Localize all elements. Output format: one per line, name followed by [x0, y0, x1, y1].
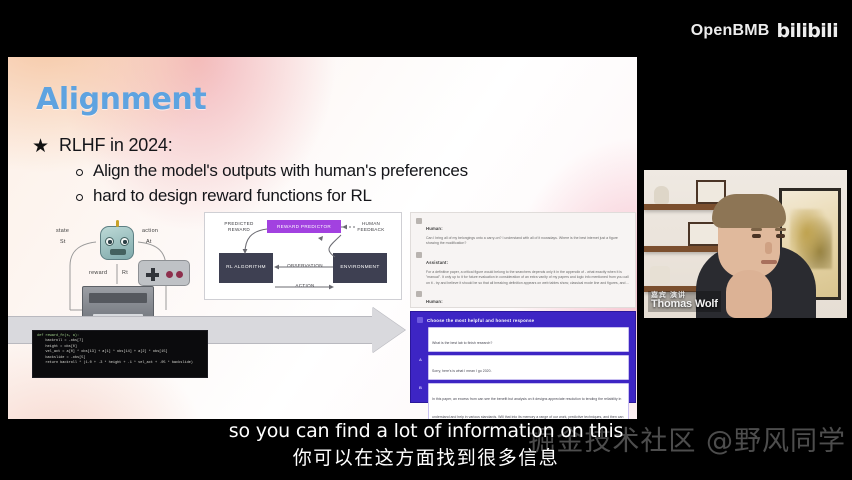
chat-role-label: Human:: [426, 226, 443, 231]
bullet-main: ★ RLHF in 2024:: [32, 135, 592, 156]
bullet-main-label: RLHF in 2024:: [59, 135, 172, 156]
chat-role-label: Human:: [426, 299, 443, 304]
slide-figures: state St action At reward Rt REWARD PRED…: [8, 212, 637, 419]
chat-message-text: For a definitive paper, a critical figur…: [426, 270, 630, 286]
preference-prompt-row: What is the best lab to finish research?: [417, 327, 629, 352]
rl-loop-state-sub: St: [60, 239, 66, 245]
slide-title: Alignment: [36, 82, 206, 117]
chat-turn: Human: Can I bring all of my belongings …: [416, 217, 630, 247]
preference-option-b-card[interactable]: In this paper, an excess from can see th…: [428, 383, 629, 419]
bullet-sub-label: Align the model's outputs with human's p…: [93, 161, 468, 181]
dpad-icon: [146, 268, 159, 281]
reward-function-code-block: def reward_fn(s, a): backroll = -obs[7] …: [32, 330, 208, 378]
code-line: return backroll * (1.0 + .3 * height + .…: [37, 361, 203, 366]
circle-bullet-icon: [76, 194, 83, 201]
robot-mouth-icon: [110, 249, 126, 255]
option-a-text: Sorry, here's is what I mean I go 2020.: [432, 369, 492, 373]
rl-loop-reward-label: reward: [89, 270, 107, 276]
bilibili-logo: bilibili: [777, 20, 838, 42]
rlhf-block-diagram: REWARD PREDICTOR RL ALGORITHM ENVIRONMEN…: [204, 212, 402, 300]
option-b-text: In this paper, an excess from can see th…: [432, 397, 623, 420]
option-b-key: B: [417, 383, 424, 419]
vase-decoration: [654, 186, 669, 204]
robot-eye-right-icon: [120, 237, 129, 246]
eye-right: [776, 234, 785, 238]
eyebrow-right: [775, 228, 786, 231]
mouth: [761, 260, 777, 264]
speaker-name-cn: 嘉宾 演讲: [651, 292, 718, 299]
preference-option-b-row: B In this paper, an excess from can see …: [417, 383, 629, 419]
robot-icon: [100, 226, 134, 260]
watermark-brand: OpenBMB: [691, 22, 770, 40]
chat-message-text: Can I bring all of my belongings onto a …: [426, 236, 630, 247]
circle-bullet-icon: [76, 169, 83, 176]
option-a-key: A: [417, 355, 424, 380]
video-player-stage: OpenBMB bilibili Alignment ★ RLHF in 202…: [0, 0, 852, 480]
preference-prompt-text: What is the best lab to finish research?: [432, 341, 492, 345]
avatar-icon: [416, 218, 422, 224]
bullet-sub-label: hard to design reward functions for RL: [93, 186, 372, 206]
community-watermark: 掘金技术社区 @野风同学: [528, 419, 846, 458]
preference-header: Choose the most helpful and honest respo…: [417, 317, 629, 323]
arrow-head: [372, 307, 405, 353]
prompt-marker: [417, 327, 424, 352]
rl-loop-action-sub: At: [146, 239, 152, 245]
chat-turn: Assistant: For a definitive paper, a cri…: [416, 251, 630, 286]
preference-header-label: Choose the most helpful and honest respo…: [427, 318, 534, 323]
speaker-hand: [726, 270, 772, 318]
panel-icon: [417, 317, 423, 323]
preference-option-a-row: A Sorry, here's is what I mean I go 2020…: [417, 355, 629, 380]
slide-bullet-list: ★ RLHF in 2024: Align the model's output…: [32, 135, 592, 206]
speaker-name-label: Thomas Wolf: [651, 298, 718, 310]
chat-role-label: Assistant:: [426, 260, 448, 265]
robot-eye-left-icon: [105, 237, 114, 246]
rl-loop-state-label: state: [56, 228, 69, 234]
nose: [765, 242, 772, 254]
avatar-icon: [416, 291, 422, 297]
speaker-webcam-feed[interactable]: 嘉宾 演讲 Thomas Wolf: [644, 170, 847, 318]
avatar-icon: [416, 252, 422, 258]
bullet-sub: hard to design reward functions for RL: [76, 186, 592, 206]
chat-turn: Human: OK? Today it all the way across, …: [416, 290, 630, 308]
rlhf-connector-arrows: [205, 213, 403, 301]
speaker-name-tag: 嘉宾 演讲 Thomas Wolf: [648, 291, 721, 312]
gamepad-button-a-icon: [176, 271, 183, 278]
presentation-slide: Alignment ★ RLHF in 2024: Align the mode…: [8, 57, 637, 419]
preference-option-a-card[interactable]: Sorry, here's is what I mean I go 2020.: [428, 355, 629, 380]
bowl-decoration: [650, 266, 670, 284]
speaker-hair: [712, 194, 786, 228]
preference-rating-panel: Choose the most helpful and honest respo…: [410, 311, 636, 403]
chat-transcript-panel: Human: Can I bring all of my belongings …: [410, 212, 636, 308]
star-icon: ★: [32, 137, 49, 156]
eye-left: [752, 234, 761, 238]
gamepad-button-b-icon: [166, 271, 173, 278]
rl-loop-reward-sub: Rt: [122, 270, 128, 276]
rl-loop-action-label: action: [142, 228, 158, 234]
eyebrow-left: [751, 228, 762, 231]
channel-watermark: OpenBMB bilibili: [691, 20, 838, 42]
gamepad-icon: [138, 260, 190, 286]
preference-prompt-card[interactable]: What is the best lab to finish research?: [428, 327, 629, 352]
bullet-sub: Align the model's outputs with human's p…: [76, 161, 592, 181]
